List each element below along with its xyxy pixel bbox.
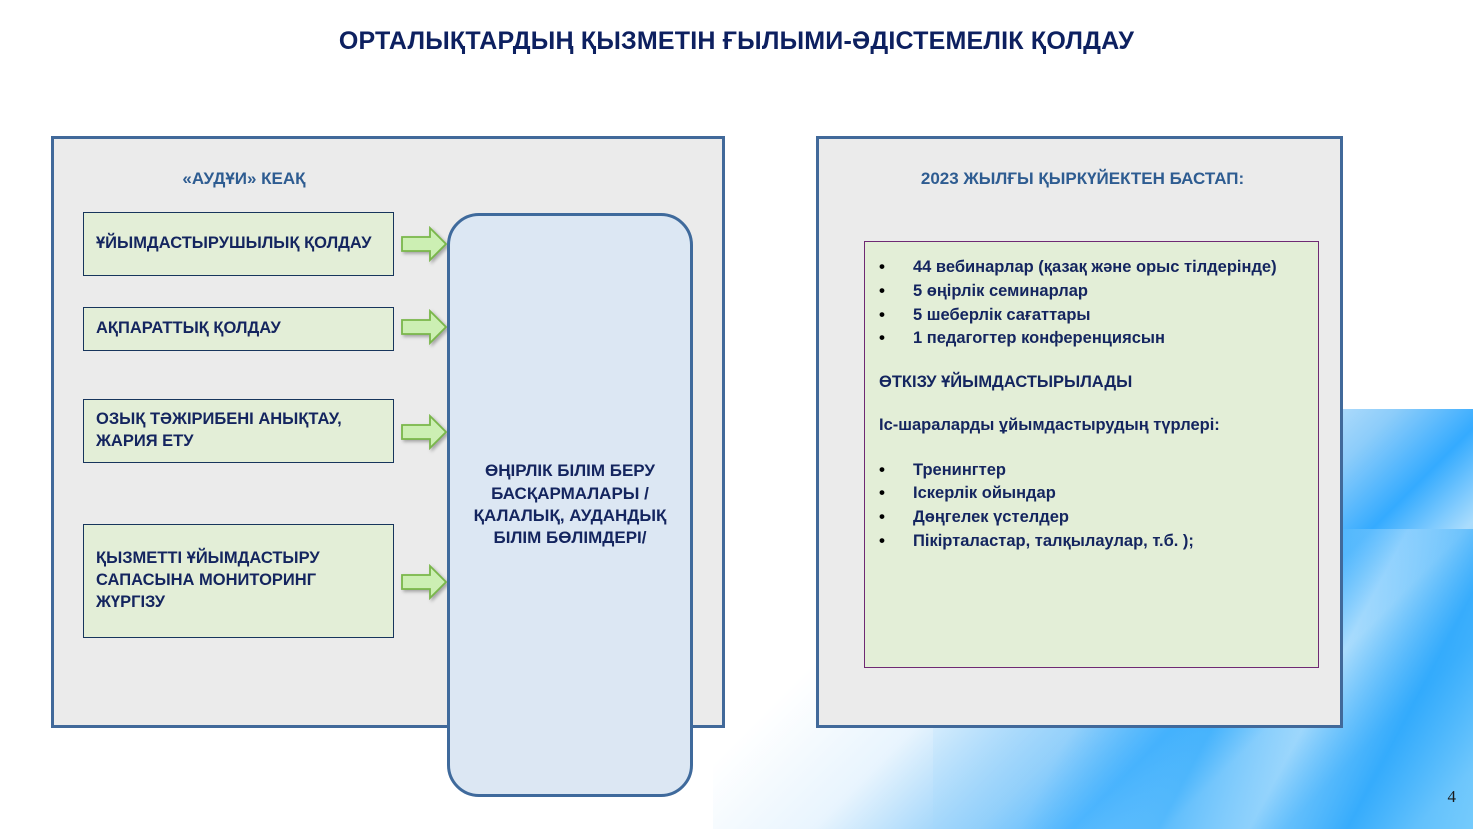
right-panel: 2023 ЖЫЛҒЫ ҚЫРКҮЙЕКТЕН БАСТАП: 44 вебина… [816,136,1343,728]
right-arrow-icon [401,309,447,345]
spacer [865,351,1312,371]
right-panel-heading: 2023 ЖЫЛҒЫ ҚЫРКҮЙЕКТЕН БАСТАП: [819,169,1346,189]
activities-list-types: Тренингтер Іскерлік ойындар Дөңгелек үст… [865,459,1312,553]
activities-subheading: Іс-шараларды ұйымдастырудың түрлері: [865,414,1312,437]
page-number: 4 [1448,787,1457,807]
list-item: Іскерлік ойындар [865,482,1312,505]
left-panel: «АУДҰИ» КЕАҚ ҰЙЫМДАСТЫРУШЫЛЫҚ ҚОЛДАУ АҚП… [51,136,725,728]
spacer [865,394,1312,414]
support-box-organizational: ҰЙЫМДАСТЫРУШЫЛЫҚ ҚОЛДАУ [83,212,394,276]
list-item: Тренингтер [865,459,1312,482]
activities-statement: ӨТКІЗУ ҰЙЫМДАСТЫРЫЛАДЫ [865,371,1312,394]
list-item: 5 өңірлік семинарлар [865,280,1312,303]
right-arrow-icon [401,414,447,450]
activities-list-counts: 44 вебинарлар (қазақ және орыс тілдерінд… [865,256,1312,350]
central-target-box-label: ӨҢІРЛІК БІЛІМ БЕРУ БАСҚАРМАЛАРЫ /ҚАЛАЛЫҚ… [450,460,690,550]
list-item: Пікірталастар, талқылаулар, т.б. ); [865,530,1312,553]
spacer [865,437,1312,459]
right-arrow-icon [401,564,447,600]
support-box-best-practice: ОЗЫҚ ТӘЖІРИБЕНІ АНЫҚТАУ, ЖАРИЯ ЕТУ [83,399,394,463]
support-box-quality-monitoring: ҚЫЗМЕТТІ ҰЙЫМДАСТЫРУ САПАСЫНА МОНИТОРИНГ… [83,524,394,638]
list-item: 5 шеберлік сағаттары [865,304,1312,327]
list-item: 44 вебинарлар (қазақ және орыс тілдерінд… [865,256,1312,279]
support-box-informational: АҚПАРАТТЫҚ ҚОЛДАУ [83,307,394,351]
list-item: 1 педагогтер конференциясын [865,327,1312,350]
left-panel-heading: «АУДҰИ» КЕАҚ [54,169,434,189]
activities-content-box: 44 вебинарлар (қазақ және орыс тілдерінд… [864,241,1319,668]
page-title: ОРТАЛЫҚТАРДЫҢ ҚЫЗМЕТІН ҒЫЛЫМИ-ӘДІСТЕМЕЛІ… [0,27,1473,56]
list-item: Дөңгелек үстелдер [865,506,1312,529]
right-arrow-icon [401,226,447,262]
central-target-box: ӨҢІРЛІК БІЛІМ БЕРУ БАСҚАРМАЛАРЫ /ҚАЛАЛЫҚ… [447,213,693,797]
